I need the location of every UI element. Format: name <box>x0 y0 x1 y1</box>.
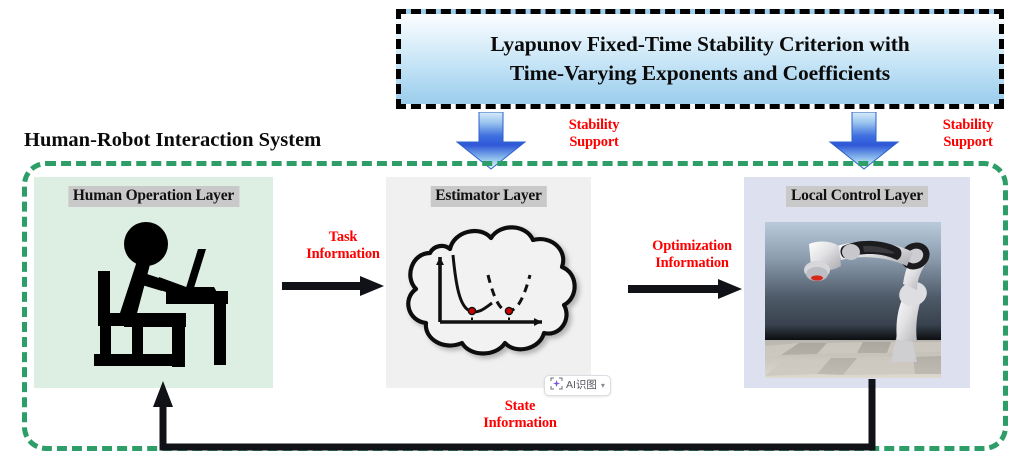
robot-arm-image <box>765 222 941 383</box>
arrow-human-to-estimator <box>282 275 386 297</box>
panel-estimator-title: Estimator Layer <box>430 186 546 207</box>
criterion-text: Lyapunov Fixed-Time Stability Criterion … <box>480 30 919 87</box>
person-at-desk-icon <box>90 221 228 372</box>
panel-human-operation-layer: Human Operation Layer <box>34 177 273 388</box>
task-information-line-1: Task <box>329 229 358 245</box>
task-information-line-2: Information <box>306 246 380 262</box>
ai-recognize-badge[interactable]: AI识图 ▾ <box>544 375 611 396</box>
criterion-box: Lyapunov Fixed-Time Stability Criterion … <box>396 9 1004 109</box>
criterion-line-2: Time-Varying Exponents and Coefficients <box>510 61 890 85</box>
optimization-information-line-1: Optimization <box>652 238 732 254</box>
stability-support-left-line-2: Support <box>569 134 618 150</box>
chevron-down-icon[interactable]: ▾ <box>601 382 605 390</box>
panel-local-control-layer: Local Control Layer <box>744 177 970 388</box>
stability-support-label-left: Stability Support <box>548 117 640 151</box>
task-information-label: Task Information <box>290 229 396 263</box>
stability-support-right-line-1: Stability <box>943 117 994 133</box>
ai-sparkle-frame-icon <box>550 377 563 395</box>
ai-badge-label: AI识图 <box>566 380 597 391</box>
hri-system-title: Human-Robot Interaction System <box>24 129 321 152</box>
diagram-canvas: Lyapunov Fixed-Time Stability Criterion … <box>0 0 1020 469</box>
optimization-information-line-2: Information <box>655 255 729 271</box>
stability-support-left-line-1: Stability <box>569 117 620 133</box>
arrow-estimator-to-local <box>628 278 744 300</box>
panel-human-title: Human Operation Layer <box>68 186 239 207</box>
panel-estimator-layer: Estimator Layer <box>386 177 591 388</box>
stability-support-label-right: Stability Support <box>922 117 1014 151</box>
panel-local-title: Local Control Layer <box>786 186 928 207</box>
cloud-optimization-plot-icon <box>392 219 588 384</box>
criterion-line-1: Lyapunov Fixed-Time Stability Criterion … <box>490 32 909 56</box>
arrow-local-to-human-feedback <box>148 379 876 455</box>
stability-support-right-line-2: Support <box>943 134 992 150</box>
optimization-information-label: Optimization Information <box>630 238 754 272</box>
